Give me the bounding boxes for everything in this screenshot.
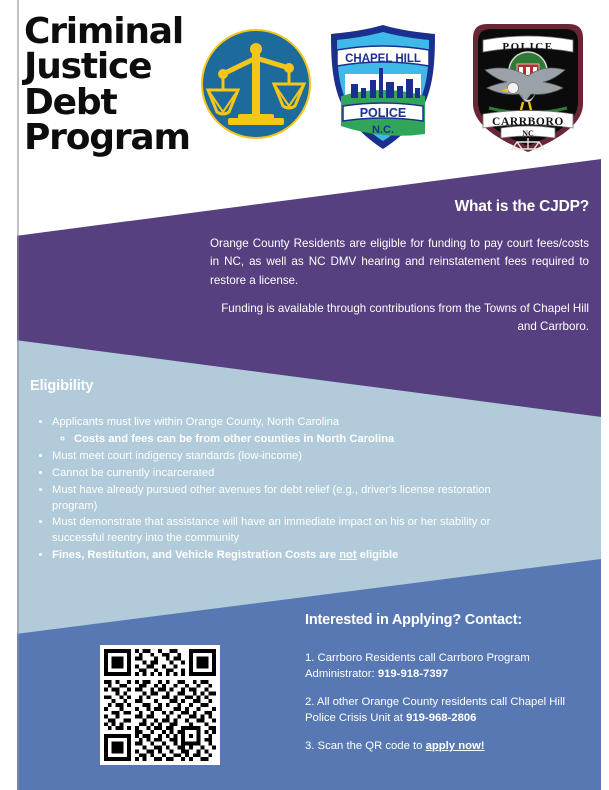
contact-item-prefix: 3. Scan the QR code to: [305, 740, 426, 752]
flyer-page: Criminal Justice Debt Program: [0, 0, 609, 790]
contact-heading: Interested in Applying? Contact:: [305, 612, 522, 628]
contact-item: 2. All other Orange County residents cal…: [305, 694, 590, 726]
eligibility-heading: Eligibility: [30, 378, 93, 394]
eligibility-sublist: Costs and fees can be from other countie…: [52, 432, 512, 448]
eligibility-item: Must meet court indigency standards (low…: [52, 449, 512, 465]
contact-phone-number: 919-968-2806: [406, 712, 476, 724]
scales-of-justice-seal: [200, 28, 312, 140]
eligibility-final-suffix: eligible: [357, 549, 399, 561]
carrboro-police-badge: POLICE: [467, 18, 589, 158]
contact-list: 1. Carrboro Residents call Carrboro Prog…: [305, 650, 590, 766]
eligibility-subitem: Costs and fees can be from other countie…: [74, 432, 512, 448]
title-line-3: Debt: [24, 85, 224, 120]
eligibility-final-underlined: not: [339, 549, 356, 561]
eligibility-item-text: Applicants must live within Orange Count…: [52, 416, 339, 428]
cjdp-paragraph-2: Funding is available through contributio…: [210, 300, 589, 337]
contact-item: 1. Carrboro Residents call Carrboro Prog…: [305, 650, 590, 682]
eligibility-item: Cannot be currently incarcerated: [52, 466, 512, 482]
qr-code[interactable]: [100, 645, 220, 765]
apply-now-link[interactable]: apply now!: [426, 740, 485, 752]
title-line-1: Criminal: [24, 14, 224, 49]
title-line-4: Program: [24, 120, 224, 155]
cjdp-heading: What is the CJDP?: [455, 198, 589, 216]
eligibility-final-prefix: Fines, Restitution, and Vehicle Registra…: [52, 549, 339, 561]
badge-text-bottom: NC: [522, 129, 534, 138]
chapel-hill-police-badge: CHAPEL HILL POLICE N.C.: [323, 22, 443, 152]
eligibility-item: Applicants must live within Orange Count…: [52, 415, 512, 448]
eligibility-item-final: Fines, Restitution, and Vehicle Registra…: [52, 548, 512, 564]
title-line-2: Justice: [24, 49, 224, 84]
contact-phone-number: 919-918-7397: [378, 668, 448, 680]
badge-text-top: POLICE: [502, 41, 553, 53]
badge-text-bottom: N.C.: [372, 124, 394, 136]
right-margin: [601, 0, 609, 790]
eligibility-list: Applicants must live within Orange Count…: [30, 415, 512, 565]
cjdp-paragraph-1: Orange County Residents are eligible for…: [210, 235, 589, 290]
logo-group: CHAPEL HILL POLICE N.C. POLICE: [195, 16, 595, 161]
eligibility-item: Must demonstrate that assistance will ha…: [52, 515, 512, 547]
eligibility-item: Must have already pursued other avenues …: [52, 483, 512, 515]
left-rule: [17, 0, 19, 790]
page-title: Criminal Justice Debt Program: [24, 14, 224, 155]
badge-text-top: CHAPEL HILL: [345, 53, 421, 65]
badge-text-middle: POLICE: [360, 106, 407, 120]
contact-item: 3. Scan the QR code to apply now!: [305, 738, 590, 754]
left-margin: [0, 0, 17, 790]
